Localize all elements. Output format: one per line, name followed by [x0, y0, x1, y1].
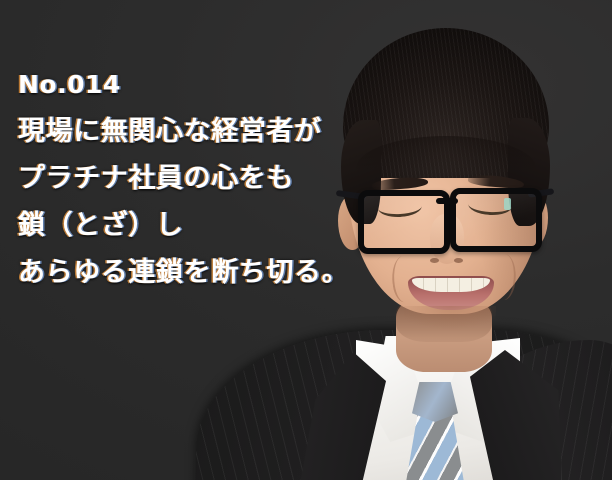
glasses-bridge: [436, 198, 458, 204]
caption-line-4: あらゆる連鎖を断ち切る。: [18, 259, 368, 286]
caption-line-3: 鎖（とざ）し: [18, 212, 368, 239]
caption-line-2: プラチナ社員の心をも: [18, 165, 368, 192]
nostril-left: [430, 258, 439, 263]
glasses-lens-right: [450, 188, 542, 252]
teeth: [412, 278, 490, 292]
chin-shadow: [404, 306, 496, 330]
poster-image: No.014 現場に無関心な経営者が プラチナ社員の心をも 鎖（とざ）し あらゆ…: [0, 0, 612, 480]
caption-number: No.014: [18, 72, 368, 97]
nostril-right: [454, 258, 463, 263]
caption-line-1: 現場に無関心な経営者が: [18, 118, 368, 145]
caption-block: No.014 現場に無関心な経営者が プラチナ社員の心をも 鎖（とざ）し あらゆ…: [18, 72, 368, 286]
glasses-lens-glint: [504, 198, 511, 210]
